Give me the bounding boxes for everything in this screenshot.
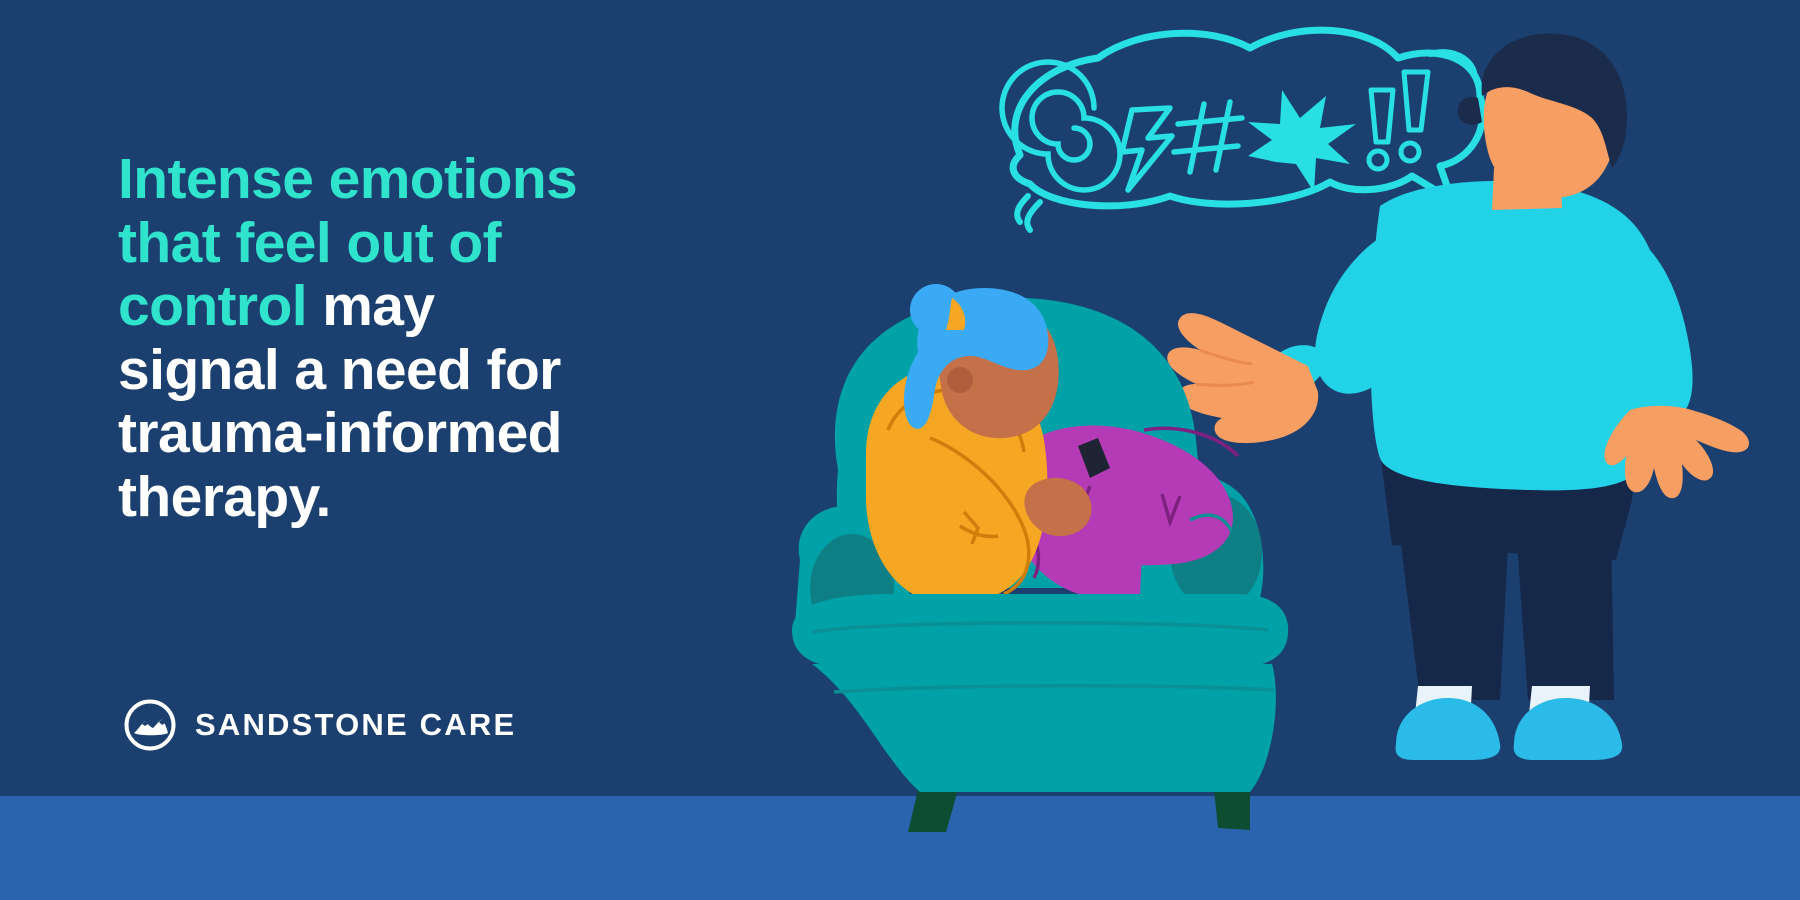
headline-line-2: that feel out of: [118, 211, 501, 275]
brand-name: SANDSTONE CARE: [195, 707, 516, 743]
headline-line-3-accent: control: [118, 274, 307, 338]
mountain-in-circle-logo-icon: [123, 698, 177, 752]
brand-logo[interactable]: SANDSTONE CARE: [123, 698, 516, 752]
background-floor: [0, 796, 1800, 900]
poster-canvas: Intense emotions that feel out of contro…: [0, 0, 1800, 900]
headline-line-5: trauma-informed: [118, 401, 562, 465]
headline-line-3-plain: may: [307, 274, 435, 338]
headline-line-6: therapy.: [118, 465, 331, 529]
headline-line-1: Intense emotions: [118, 147, 577, 211]
headline-line-4: signal a need for: [118, 338, 561, 402]
page-title: Intense emotions that feel out of contro…: [118, 148, 738, 529]
